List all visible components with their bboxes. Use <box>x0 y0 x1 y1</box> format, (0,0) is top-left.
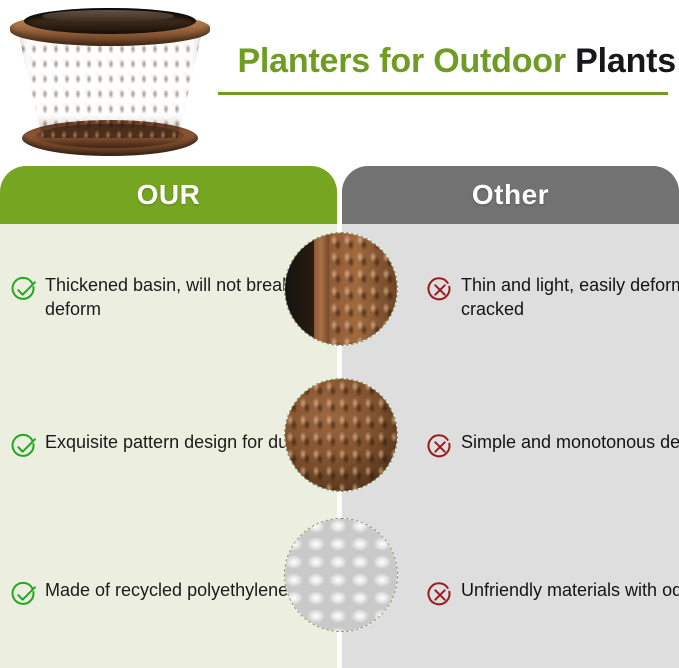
feature-text: Exquisite pattern design for durability <box>45 431 340 455</box>
column-our: OUR Thickened basin, will not break and … <box>0 166 337 668</box>
page-title: Planters for Outdoor Plants <box>216 44 676 78</box>
title-underline <box>218 92 668 95</box>
column-divider <box>337 166 342 668</box>
page-title-green: Planters for Outdoor <box>237 42 575 80</box>
column-other-header: Other <box>342 166 679 224</box>
product-photo <box>4 2 216 162</box>
feature-text: Unfriendly materials with odors <box>461 579 679 603</box>
planter-pot-illustration <box>4 2 216 162</box>
title-underline-dots <box>655 92 669 95</box>
feature-text: Thin and light, easily deformed and crac… <box>461 274 679 322</box>
check-circle-icon <box>10 433 38 461</box>
feature-row: Unfriendly materials with odors <box>342 520 679 668</box>
hero-section: Planters for Outdoor Plants <box>0 0 679 166</box>
column-our-header-label: OUR <box>137 179 201 211</box>
column-our-feature-list: Thickened basin, will not break and defo… <box>0 224 337 668</box>
feature-row: Simple and monotonous design <box>342 372 679 520</box>
page-title-black: Plants <box>575 42 676 80</box>
column-other: Other Thin and light, easily deformed an… <box>342 166 679 668</box>
x-circle-icon <box>426 581 454 609</box>
column-other-feature-list: Thin and light, easily deformed and crac… <box>342 224 679 668</box>
x-circle-icon <box>426 433 454 461</box>
column-our-header: OUR <box>0 166 337 224</box>
x-circle-icon <box>426 276 454 304</box>
feature-row: Thin and light, easily deformed and crac… <box>342 224 679 372</box>
column-other-header-label: Other <box>472 179 549 211</box>
check-circle-icon <box>10 276 38 304</box>
check-circle-icon <box>10 581 38 609</box>
pot-interior-highlight <box>42 10 174 22</box>
comparison-board: OUR Thickened basin, will not break and … <box>0 166 679 668</box>
feature-text: Simple and monotonous design <box>461 431 679 455</box>
feature-text: Made of recycled polyethylene <box>45 579 288 603</box>
feature-text: Thickened basin, will not break and defo… <box>45 274 347 322</box>
